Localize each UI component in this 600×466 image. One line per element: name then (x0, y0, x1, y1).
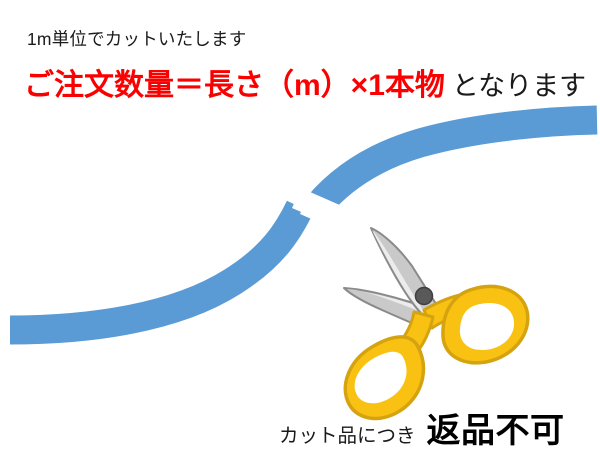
scissors-handle-right (424, 287, 528, 363)
scissors-handle-left (345, 312, 433, 419)
no-return-prefix: カット品につき (279, 425, 416, 447)
cable-segment-left (10, 207, 300, 330)
no-return-note: カット品につき返品不可 (279, 414, 565, 448)
order-quantity-emphasis: ご注文数量＝長さ（m）×1本物 (24, 69, 445, 102)
cut-unit-note: 1m単位でカットいたします (27, 31, 246, 49)
scissors (344, 228, 528, 419)
scissors-pivot-screw (416, 288, 433, 305)
cable-segment-right (318, 120, 597, 206)
order-quantity-note: ご注文数量＝長さ（m）×1本物となります (24, 71, 586, 101)
order-quantity-tail: となります (445, 71, 586, 101)
cut-service-notice-image: 1m単位でカットいたします ご注文数量＝長さ（m）×1本物となります カット品に… (0, 0, 600, 466)
no-return-strong: 返品不可 (416, 412, 565, 450)
